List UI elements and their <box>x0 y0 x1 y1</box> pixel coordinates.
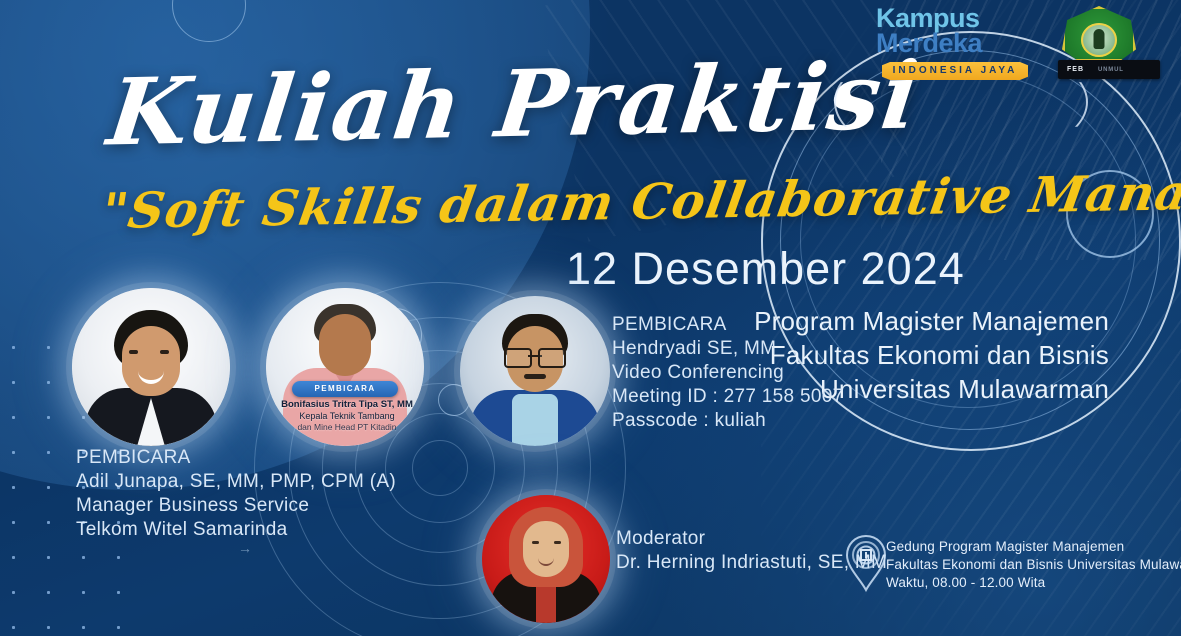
venue-line-2: Fakultas Ekonomi dan Bisnis Universitas … <box>886 556 1181 574</box>
location-pin-icon <box>845 534 887 592</box>
partner-logo-left: FEB <box>1058 66 1084 73</box>
speaker-1-company: Telkom Witel Samarinda <box>76 518 396 542</box>
speaker-3-mode: Video Conferencing <box>612 361 843 385</box>
partner-logo-bar: FEB UNMUL <box>1058 60 1160 79</box>
speaker-2-badge: PEMBICARA <box>292 381 398 397</box>
moderator-photo <box>482 495 610 623</box>
venue-line-1: Gedung Program Magister Manajemen <box>886 538 1181 556</box>
decorative-arrow-icon: → <box>238 540 251 556</box>
venue-line-3: Waktu, 08.00 - 12.00 Wita <box>886 574 1181 592</box>
venue-info: Gedung Program Magister Manajemen Fakult… <box>886 538 1181 593</box>
event-date: 12 Desember 2024 <box>566 243 965 295</box>
speaker-3-info: PEMBICARA Hendryadi SE, MM Video Confere… <box>612 313 843 433</box>
speaker-3-photo <box>460 296 610 446</box>
kampus-merdeka-logo: Kampus Merdeka INDONESIA JAYA <box>876 6 1032 84</box>
speaker-1-position: Manager Business Service <box>76 494 396 518</box>
kampus-merdeka-line-2: Merdeka <box>876 31 1032 56</box>
speaker-1-info: PEMBICARA Adil Junapa, SE, MM, PMP, CPM … <box>76 446 396 542</box>
event-poster: Kuliah Praktisi "Soft Skills dalam Colla… <box>0 0 1181 636</box>
speaker-1-role: PEMBICARA <box>76 446 396 470</box>
speaker-1-name: Adil Junapa, SE, MM, PMP, CPM (A) <box>76 470 396 494</box>
partner-logo-right: UNMUL <box>1084 67 1124 73</box>
speaker-2-caption: Bonifasius Tritra Tipa ST, MM Kepala Tek… <box>258 399 436 433</box>
speaker-3-name: Hendryadi SE, MM <box>612 337 843 361</box>
speaker-2-name: Bonifasius Tritra Tipa ST, MM <box>258 399 436 411</box>
meeting-id: Meeting ID : 277 158 5007 <box>612 385 843 409</box>
speaker-1-photo <box>72 288 230 446</box>
kampus-merdeka-ribbon: INDONESIA JAYA <box>882 62 1028 80</box>
speaker-2-company: dan Mine Head PT Kitadin <box>258 422 436 433</box>
meeting-passcode: Passcode : kuliah <box>612 409 843 433</box>
poster-title: Kuliah Praktisi <box>103 50 925 159</box>
unmul-emblem-icon <box>1081 23 1117 57</box>
speaker-3-role: PEMBICARA <box>612 313 843 337</box>
speaker-2-position: Kepala Teknik Tambang <box>258 411 436 422</box>
